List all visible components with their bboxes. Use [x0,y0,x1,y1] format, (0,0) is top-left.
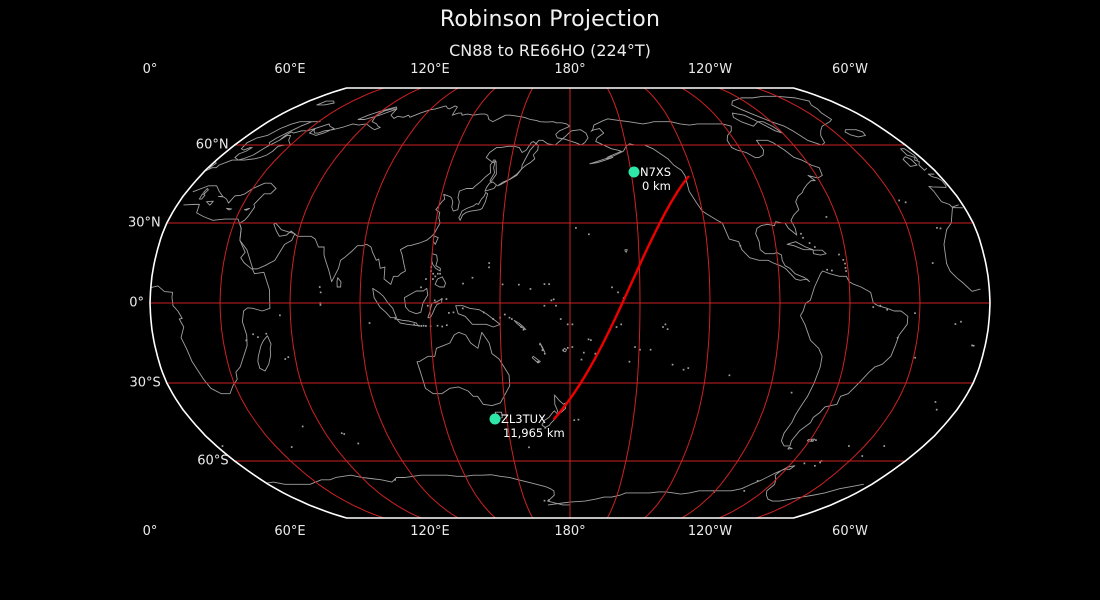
lon-tick-top: 120°W [688,62,732,77]
lat-tick: 0° [129,296,144,311]
robinson-map [0,0,1100,600]
lon-tick-bottom: 120°E [410,524,450,539]
station-distance: 0 km [642,180,671,194]
lon-tick-bottom: 60°E [274,524,305,539]
lon-tick-bottom: 60°W [832,524,868,539]
lon-tick-bottom: 180° [554,524,585,539]
marker-layer [490,167,640,425]
lon-tick-bottom: 0° [143,524,158,539]
lon-tick-top: 180° [554,62,585,77]
lon-tick-top: 60°E [274,62,305,77]
lat-tick: 60°S [197,453,228,468]
lon-tick-top: 0° [143,62,158,77]
station-label-n7xs: N7XS0 km [640,166,671,193]
lon-tick-top: 60°W [832,62,868,77]
map-figure: Robinson Projection CN88 to RE66HO (224°… [0,0,1100,600]
coastline-layer [151,96,980,505]
lat-tick: 30°N [128,216,161,231]
station-label-zl3tux: ZL3TUX11,965 km [501,413,565,440]
station-callsign: ZL3TUX [501,413,565,427]
station-distance: 11,965 km [503,427,565,441]
lon-tick-bottom: 120°W [688,524,732,539]
station-marker-zl3tux[interactable] [490,414,501,425]
graticule-layer [150,88,990,518]
station-callsign: N7XS [640,166,671,180]
lon-tick-top: 120°E [410,62,450,77]
station-marker-n7xs[interactable] [629,167,640,178]
lat-tick: 60°N [196,138,229,153]
lat-tick: 30°S [130,375,161,390]
